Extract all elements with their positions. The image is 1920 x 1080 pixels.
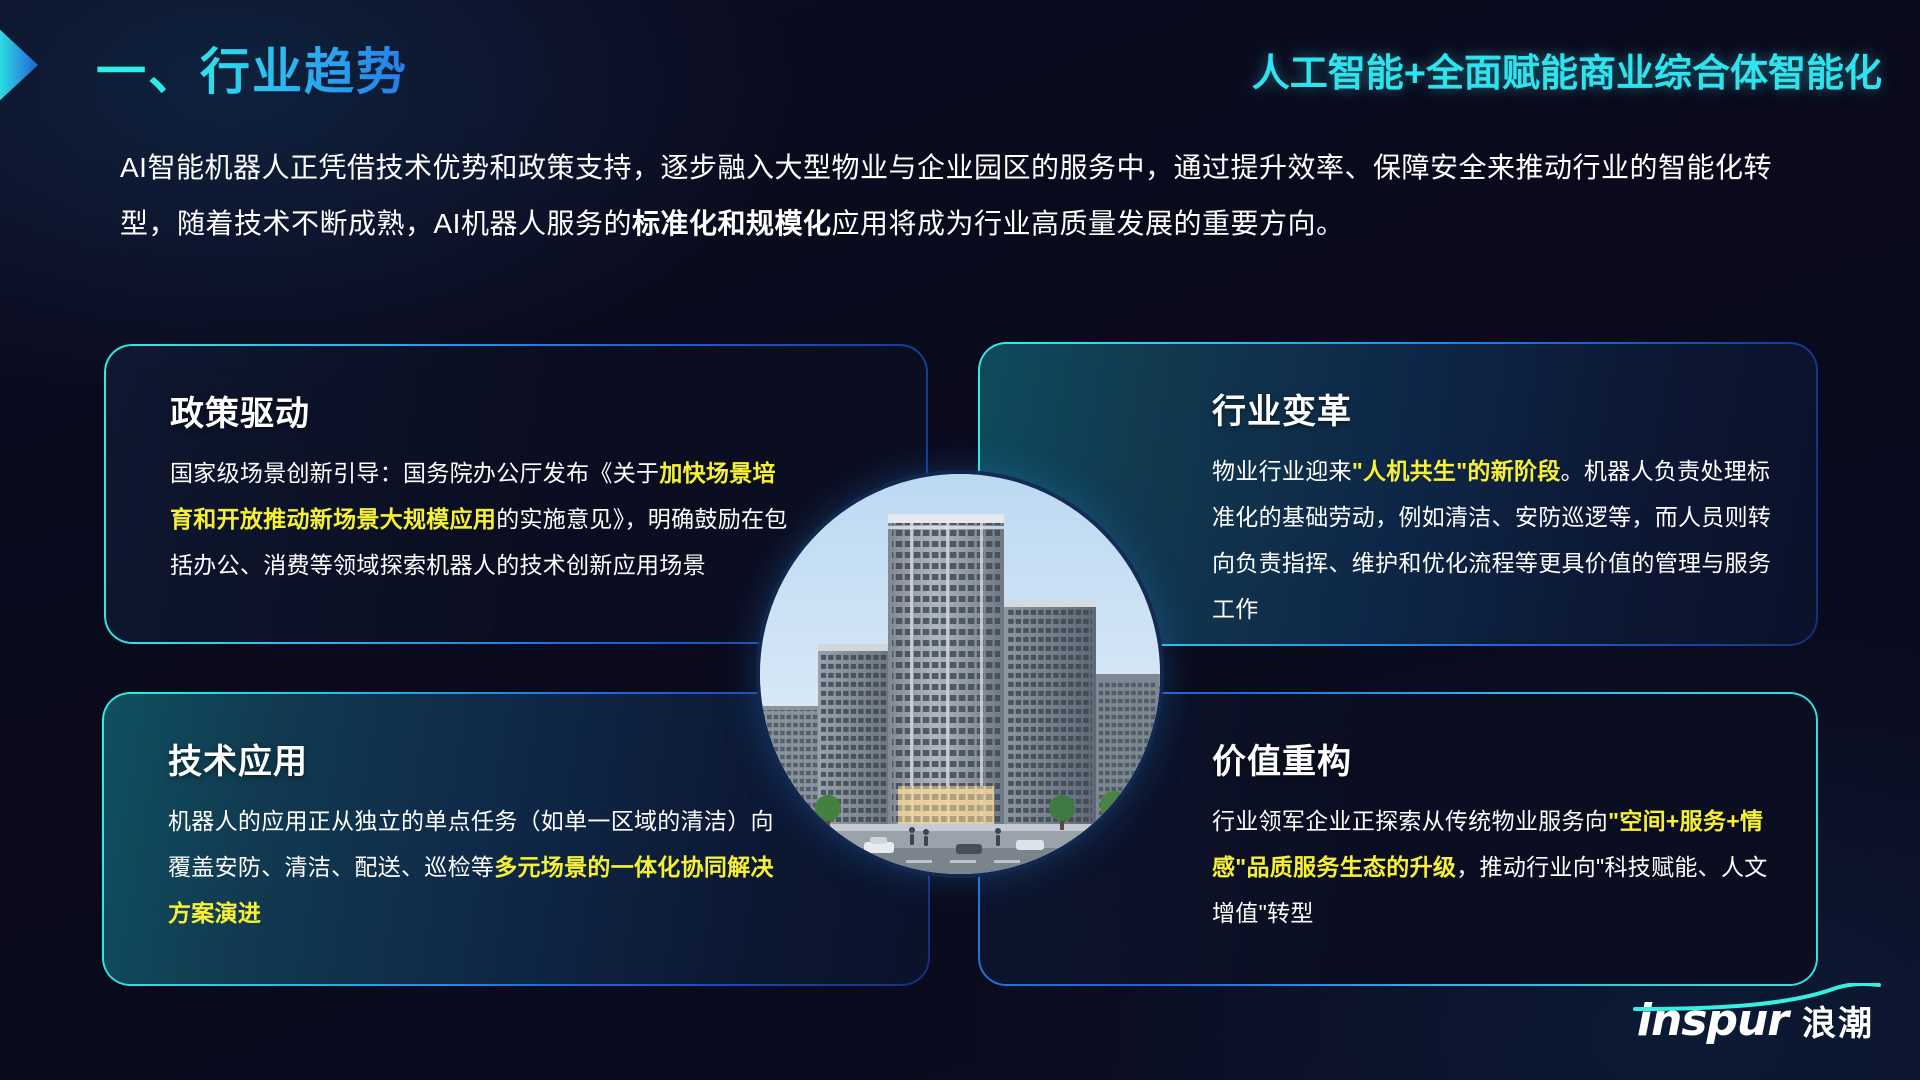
card-title: 价值重构	[1212, 734, 1352, 783]
body-text: 物业行业迎来	[1212, 458, 1352, 484]
slide-root: 一、行业趋势 人工智能+全面赋能商业综合体智能化 AI智能机器人正凭借技术优势和…	[0, 0, 1920, 1080]
card-title: 行业变革	[1212, 384, 1352, 433]
page-title: 一、行业趋势	[96, 32, 408, 104]
card-body: 行业领军企业正探索从传统物业服务向"空间+服务+情感"品质服务生态的升级，推动行…	[1212, 798, 1782, 936]
office-building-photo	[760, 474, 1160, 874]
logo-cn-text: 浪潮	[1802, 996, 1874, 1045]
body-text: 行业领军企业正探索从传统物业服务向	[1212, 808, 1608, 834]
chevron-right-arrow-icon	[0, 24, 70, 106]
header-subtitle: 人工智能+全面赋能商业综合体智能化	[1252, 42, 1882, 97]
building-illustration	[760, 474, 1160, 874]
intro-paragraph: AI智能机器人正凭借技术优势和政策支持，逐步融入大型物业与企业园区的服务中，通过…	[120, 140, 1800, 252]
inspur-logo: inspur 浪潮	[1637, 995, 1874, 1046]
card-title: 技术应用	[168, 734, 308, 783]
card-body: 机器人的应用正从独立的单点任务（如单一区域的清洁）向覆盖安防、清洁、配送、巡检等…	[168, 798, 788, 936]
logo-wordmark: inspur	[1637, 995, 1788, 1046]
card-body: 物业行业迎来"人机共生"的新阶段。机器人负责处理标准化的基础劳动，例如清洁、安防…	[1212, 448, 1782, 632]
intro-text-bold: 标准化和规模化	[632, 208, 832, 239]
intro-text-part2: 应用将成为行业高质量发展的重要方向。	[831, 208, 1344, 239]
card-body: 国家级场景创新引导：国务院办公厅发布《关于加快场景培育和开放推动新场景大规模应用…	[170, 450, 790, 588]
card-title: 政策驱动	[170, 386, 310, 435]
highlighted-text: "人机共生"的新阶段	[1352, 458, 1561, 484]
body-text: 国家级场景创新引导：国务院办公厅发布《关于	[170, 460, 659, 486]
logo-mark-text: inspur	[1637, 995, 1788, 1046]
